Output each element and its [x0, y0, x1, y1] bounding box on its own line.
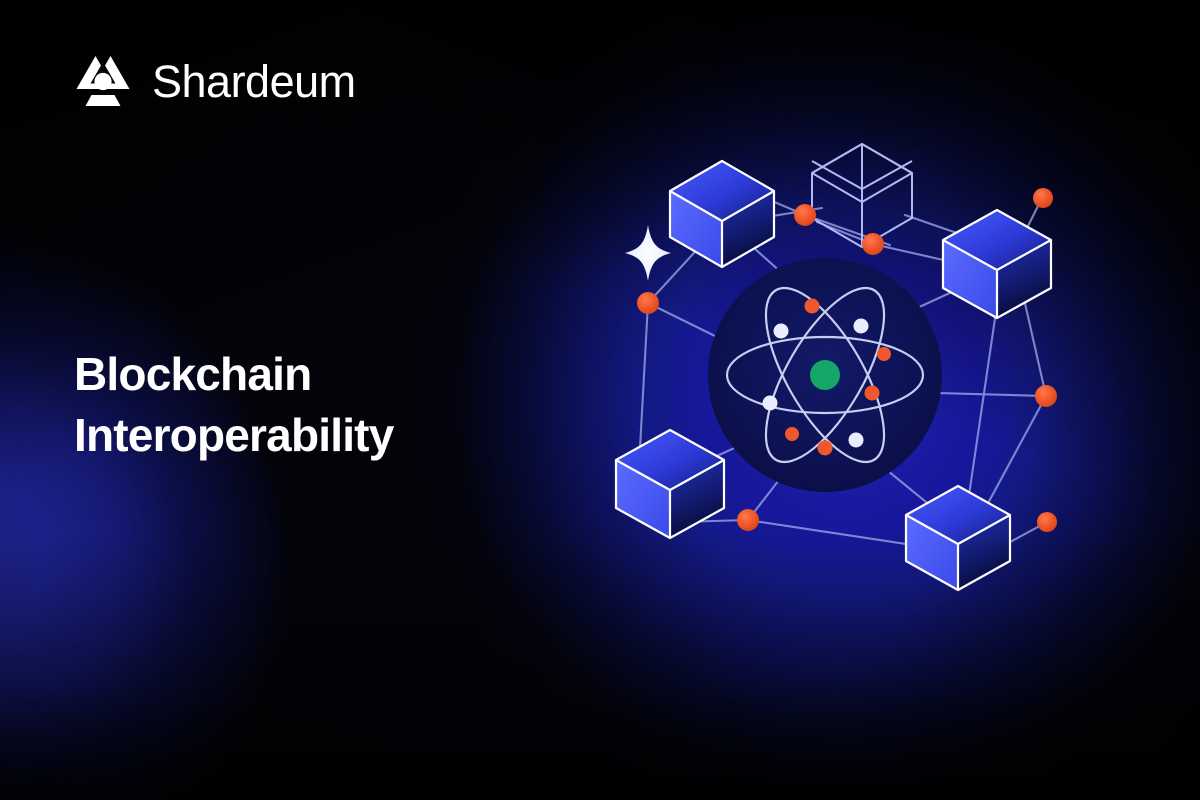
cube-right-upper [943, 210, 1051, 318]
blockchain-interoperability-network-illustration [560, 130, 1160, 670]
brand-lockup[interactable]: Shardeum [74, 52, 356, 110]
shardeum-triangle-logo-icon [74, 52, 136, 110]
atom-particle-white [774, 324, 789, 339]
content-column: Shardeum Blockchain Interoperability [0, 0, 560, 800]
link-noderight-to-bottomright [980, 396, 1046, 518]
cube-top-center [812, 144, 912, 247]
brand-wordmark: Shardeum [152, 59, 356, 104]
node-bottom [737, 509, 759, 531]
page-title-line-1: Blockchain [74, 344, 514, 405]
link-rightupper-to-noderight [1022, 290, 1046, 396]
page-title-line-2: Interoperability [74, 405, 514, 466]
node-upper-center [862, 233, 884, 255]
promo-banner: Shardeum Blockchain Interoperability [0, 0, 1200, 800]
node-left [637, 292, 659, 314]
atom-particle-white [763, 396, 778, 411]
node-bottom-right [1037, 512, 1057, 532]
link-rightupper-to-bottomright [968, 298, 998, 502]
atom-particle-orange [818, 441, 833, 456]
cube-bottom-right [906, 486, 1010, 590]
page-title: Blockchain Interoperability [74, 344, 514, 466]
atom-nucleus [810, 360, 840, 390]
atom-particle-orange [805, 299, 820, 314]
atom-particle-orange [865, 386, 880, 401]
atom-particle-orange [877, 347, 891, 361]
atom-icon [708, 258, 942, 492]
node-top [794, 204, 816, 226]
four-point-star-sparkle-icon [625, 225, 671, 281]
atom-particle-orange [785, 427, 799, 441]
atom-particle-white [854, 319, 869, 334]
link-bottom-to-bottomright [748, 520, 932, 548]
node-right [1035, 385, 1057, 407]
link-nodeleft-to-leftlower [640, 303, 648, 448]
atom-particle-white [849, 433, 864, 448]
node-top-right [1033, 188, 1053, 208]
